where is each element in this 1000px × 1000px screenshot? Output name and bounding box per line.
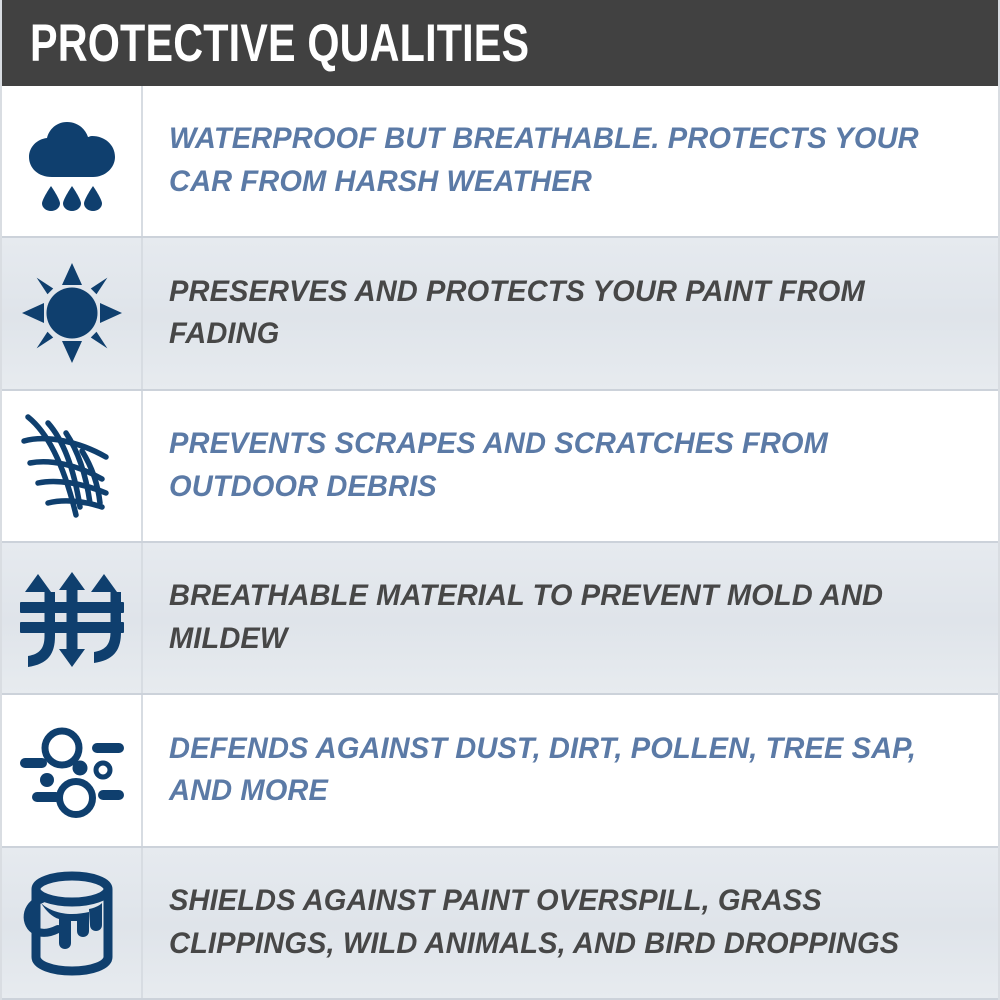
icon-cell [2, 543, 143, 693]
feature-text: WATERPROOF BUT BREATHABLE. PROTECTS YOUR… [169, 118, 960, 204]
icon-cell [2, 848, 143, 998]
text-cell: SHIELDS AGAINST PAINT OVERSPILL, GRASS C… [143, 848, 998, 998]
page-title: PROTECTIVE QUALITIES [30, 17, 529, 70]
icon-cell [2, 86, 143, 236]
text-cell: DEFENDS AGAINST DUST, DIRT, POLLEN, TREE… [143, 695, 998, 845]
icon-cell [2, 391, 143, 541]
rain-cloud-icon [20, 111, 124, 211]
protective-qualities-infographic: PROTECTIVE QUALITIES WATERPROOF BUT BREA… [0, 0, 1000, 1000]
text-cell: BREATHABLE MATERIAL TO PREVENT MOLD AND … [143, 543, 998, 693]
feature-row-uv-protection: PRESERVES AND PROTECTS YOUR PAINT FROM F… [2, 238, 998, 390]
feature-row-dust-defense: DEFENDS AGAINST DUST, DIRT, POLLEN, TREE… [2, 695, 998, 847]
icon-cell [2, 238, 143, 388]
sun-icon [22, 263, 122, 363]
text-cell: PREVENTS SCRAPES AND SCRATCHES FROM OUTD… [143, 391, 998, 541]
feature-list: WATERPROOF BUT BREATHABLE. PROTECTS YOUR… [2, 86, 998, 1000]
feature-row-waterproof: WATERPROOF BUT BREATHABLE. PROTECTS YOUR… [2, 86, 998, 238]
feature-row-breathability: BREATHABLE MATERIAL TO PREVENT MOLD AND … [2, 543, 998, 695]
dust-particles-icon [18, 722, 126, 818]
feature-row-spill-shield: SHIELDS AGAINST PAINT OVERSPILL, GRASS C… [2, 848, 998, 1000]
feature-text: PREVENTS SCRAPES AND SCRATCHES FROM OUTD… [169, 423, 960, 509]
feature-text: DEFENDS AGAINST DUST, DIRT, POLLEN, TREE… [169, 728, 960, 814]
feature-text: BREATHABLE MATERIAL TO PREVENT MOLD AND … [169, 575, 960, 661]
breathable-airflow-arrows-icon [18, 566, 126, 670]
icon-cell [2, 695, 143, 845]
feature-text: SHIELDS AGAINST PAINT OVERSPILL, GRASS C… [169, 880, 960, 966]
text-cell: WATERPROOF BUT BREATHABLE. PROTECTS YOUR… [143, 86, 998, 236]
scratch-mesh-icon [20, 411, 124, 521]
feature-row-scratch-resistance: PREVENTS SCRAPES AND SCRATCHES FROM OUTD… [2, 391, 998, 543]
feature-text: PRESERVES AND PROTECTS YOUR PAINT FROM F… [169, 271, 960, 357]
header-bar: PROTECTIVE QUALITIES [2, 0, 998, 86]
paint-can-drip-icon [20, 869, 124, 977]
text-cell: PRESERVES AND PROTECTS YOUR PAINT FROM F… [143, 238, 998, 388]
